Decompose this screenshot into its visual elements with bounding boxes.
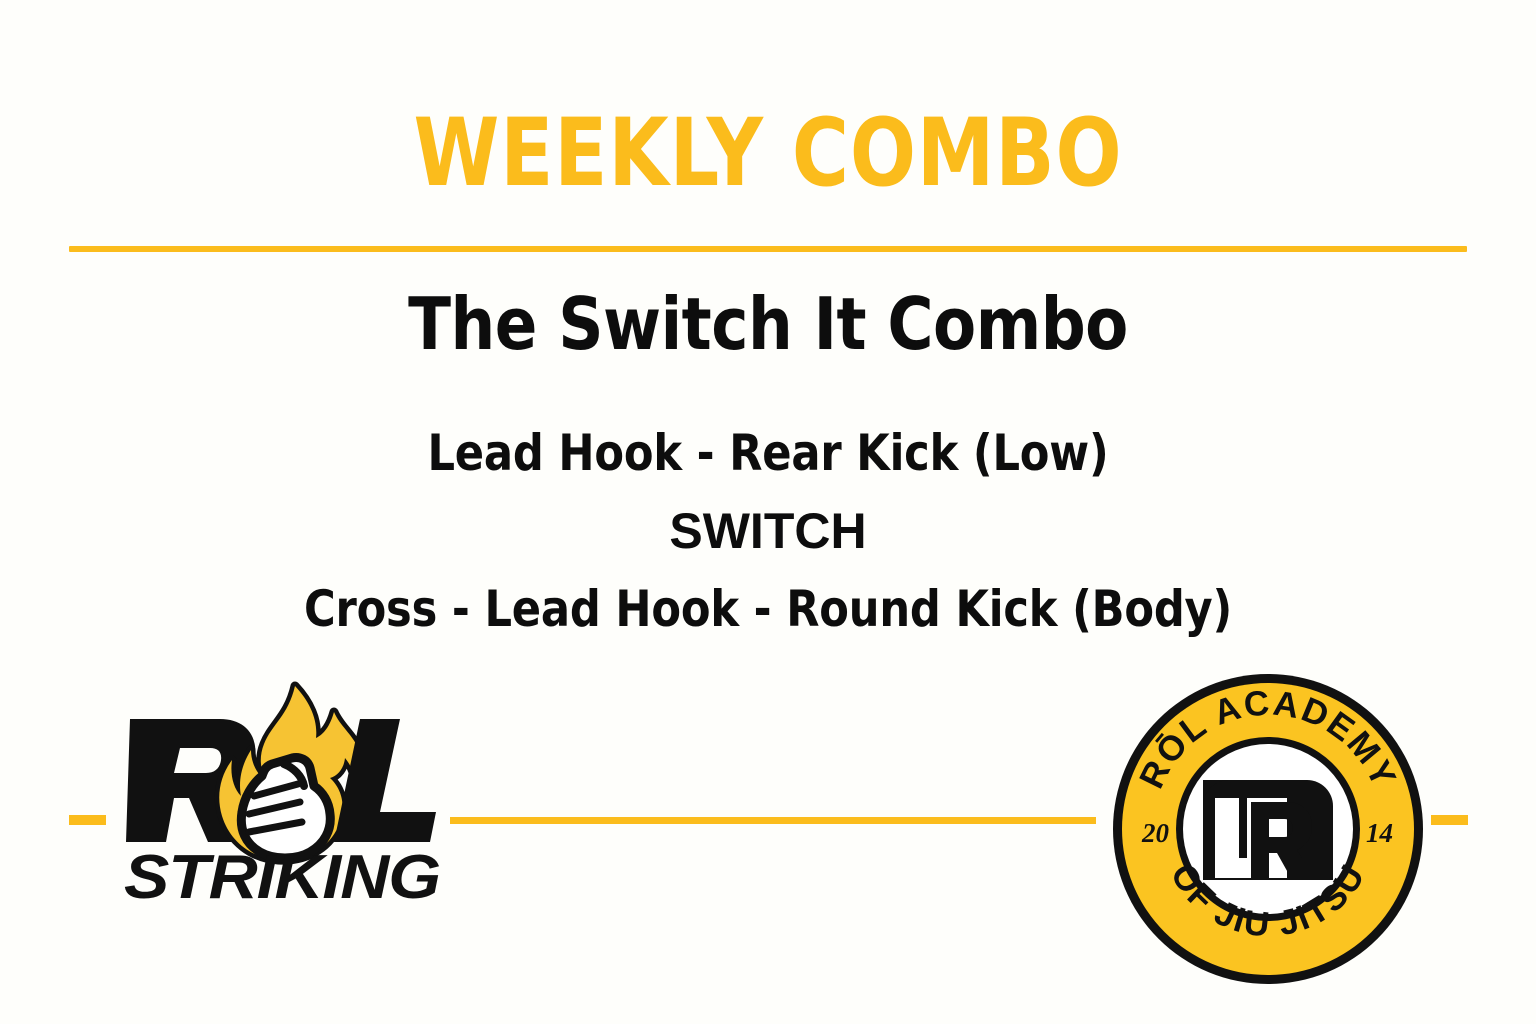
- combo-name: The Switch It Combo: [23, 282, 1513, 366]
- page-title: WEEKLY COMBO: [61, 104, 1474, 204]
- combo-step-1: Lead Hook - Rear Kick (Low): [31, 414, 1506, 492]
- rol-striking-logo: STRIKING: [112, 672, 452, 904]
- rol-academy-seal: RŌL ACADEMY OF JIU JITSU 20 14: [1111, 672, 1425, 986]
- footer-divider-right-dash: [1431, 815, 1468, 825]
- footer-divider-middle: [450, 817, 1096, 824]
- seal-monogram-lr: [1203, 780, 1333, 880]
- logo-wordmark: STRIKING: [124, 843, 440, 904]
- footer-divider-left-dash: [69, 815, 106, 825]
- weekly-combo-card: WEEKLY COMBO The Switch It Combo Lead Ho…: [0, 0, 1536, 1024]
- svg-text:STRIKING: STRIKING: [124, 843, 440, 904]
- seal-year-left: 20: [1141, 818, 1170, 848]
- seal-year-right: 14: [1366, 818, 1393, 848]
- combo-step-list: Lead Hook - Rear Kick (Low) SWITCH Cross…: [0, 414, 1536, 648]
- combo-step-3: Cross - Lead Hook - Round Kick (Body): [31, 570, 1506, 648]
- header-divider: [69, 246, 1467, 252]
- combo-step-2: SWITCH: [0, 492, 1536, 570]
